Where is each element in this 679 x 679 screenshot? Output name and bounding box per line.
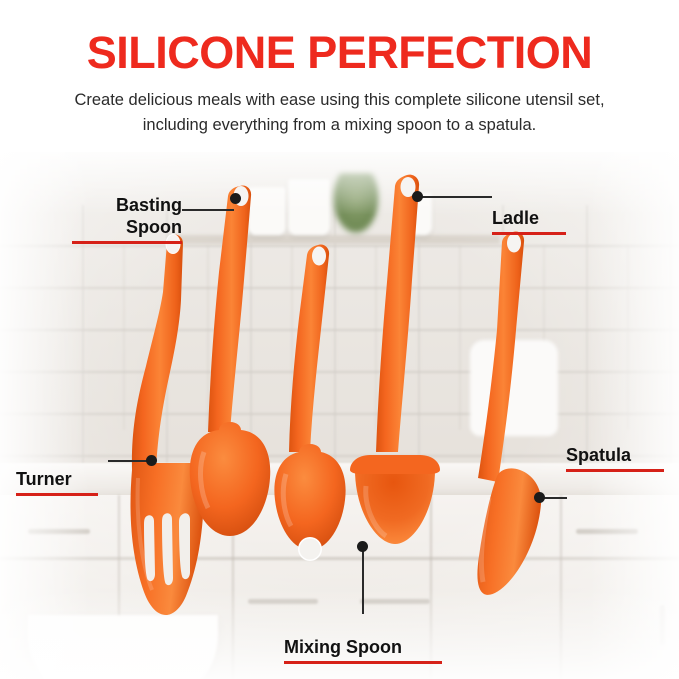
utensil-ladle: [350, 175, 440, 544]
leader-basting-spoon: [182, 209, 234, 211]
callout-ladle-label: Ladle: [492, 208, 539, 228]
callout-ladle-rule: [492, 232, 566, 235]
utensil-spatula: [477, 232, 541, 595]
callout-mixing-spoon: Mixing Spoon: [284, 614, 444, 679]
utensil-turner: [131, 234, 205, 615]
callout-mixing-spoon-rule: [284, 661, 442, 664]
utensil-basting-spoon: [190, 186, 271, 536]
dot-turner: [146, 455, 157, 466]
product-infographic: SILICONE PERFECTION Create delicious mea…: [0, 0, 679, 679]
dot-spatula: [534, 492, 545, 503]
header: SILICONE PERFECTION Create delicious mea…: [0, 0, 679, 152]
leader-ladle: [420, 196, 492, 198]
callout-spatula: Spatula: [566, 422, 674, 494]
utensil-mixing-spoon: [274, 245, 345, 561]
dot-ladle: [412, 191, 423, 202]
dot-mixing-spoon: [357, 541, 368, 552]
callout-mixing-spoon-label: Mixing Spoon: [284, 637, 402, 657]
callout-turner: Turner: [16, 446, 112, 518]
dot-basting-spoon: [230, 193, 241, 204]
callout-ladle: Ladle: [492, 185, 602, 257]
callout-basting-spoon: Basting Spoon: [72, 172, 182, 266]
page-subtitle: Create delicious meals with ease using t…: [60, 88, 619, 138]
callout-spatula-rule: [566, 469, 664, 472]
callout-basting-spoon-label: Basting Spoon: [116, 195, 182, 237]
callout-turner-rule: [16, 493, 98, 496]
callout-spatula-label: Spatula: [566, 445, 631, 465]
callout-turner-label: Turner: [16, 469, 72, 489]
page-title: SILICONE PERFECTION: [0, 28, 679, 78]
leader-mixing-spoon: [362, 548, 364, 614]
callout-basting-spoon-rule: [72, 241, 182, 244]
